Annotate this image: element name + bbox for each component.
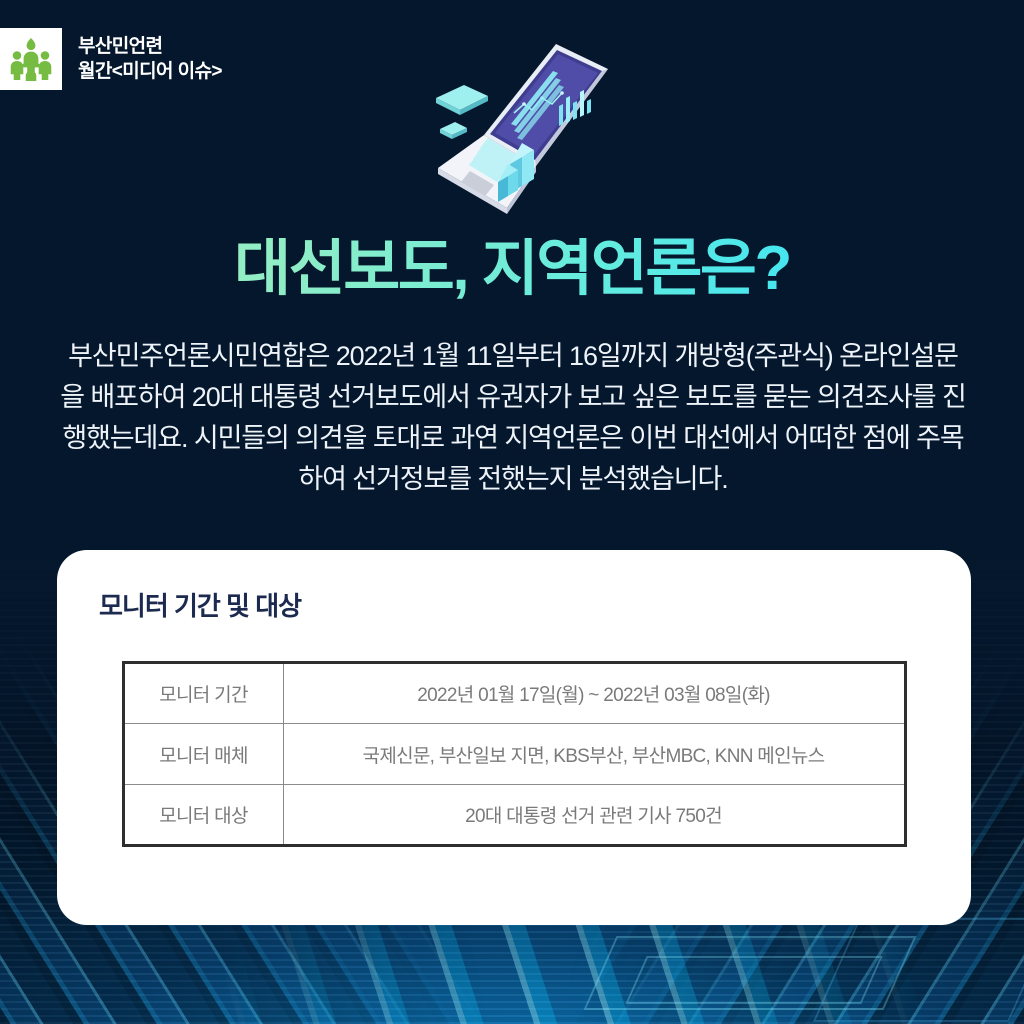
row-value: 국제신문, 부산일보 지면, KBS부산, 부산MBC, KNN 메인뉴스 xyxy=(283,724,905,785)
page-title: 대선보도, 지역언론은? xyxy=(0,238,1024,300)
row-label: 모니터 매체 xyxy=(123,724,283,785)
background-rect-3 xyxy=(813,918,1024,1022)
organization-name-block: 부산민언련 월간<미디어 이슈> xyxy=(78,34,222,84)
floating-card-icon xyxy=(436,85,488,115)
laptop-dashboard-illustration xyxy=(422,38,622,223)
background-rect-2 xyxy=(625,956,882,1004)
organization-logo xyxy=(0,28,62,90)
publication-name: 월간<미디어 이슈> xyxy=(78,59,222,84)
table-row: 모니터 매체 국제신문, 부산일보 지면, KBS부산, 부산MBC, KNN … xyxy=(123,724,905,785)
table-row: 모니터 대상 20대 대통령 선거 관련 기사 750건 xyxy=(123,785,905,846)
monitor-summary-table: 모니터 기간 2022년 01월 17일(월) ~ 2022년 03월 08일(… xyxy=(122,661,907,847)
info-card: 모니터 기간 및 대상 모니터 기간 2022년 01월 17일(월) ~ 20… xyxy=(57,550,971,925)
table-row: 모니터 기간 2022년 01월 17일(월) ~ 2022년 03월 08일(… xyxy=(123,663,905,724)
organization-name: 부산민언련 xyxy=(78,34,222,59)
family-people-logo-icon xyxy=(6,34,56,84)
intro-paragraph: 부산민주언론시민연합은 2022년 1월 11일부터 16일까지 개방형(주관식… xyxy=(58,336,968,500)
header: 부산민언련 월간<미디어 이슈> xyxy=(0,28,222,90)
row-label: 모니터 대상 xyxy=(123,785,283,846)
row-value: 2022년 01월 17일(월) ~ 2022년 03월 08일(화) xyxy=(283,663,905,724)
floating-chip-icon xyxy=(440,122,467,139)
card-news-slide: 부산민언련 월간<미디어 이슈> xyxy=(0,0,1024,1024)
background-rect-1 xyxy=(584,936,917,1010)
row-value: 20대 대통령 선거 관련 기사 750건 xyxy=(283,785,905,846)
row-label: 모니터 기간 xyxy=(123,663,283,724)
info-card-heading: 모니터 기간 및 대상 xyxy=(99,586,971,623)
